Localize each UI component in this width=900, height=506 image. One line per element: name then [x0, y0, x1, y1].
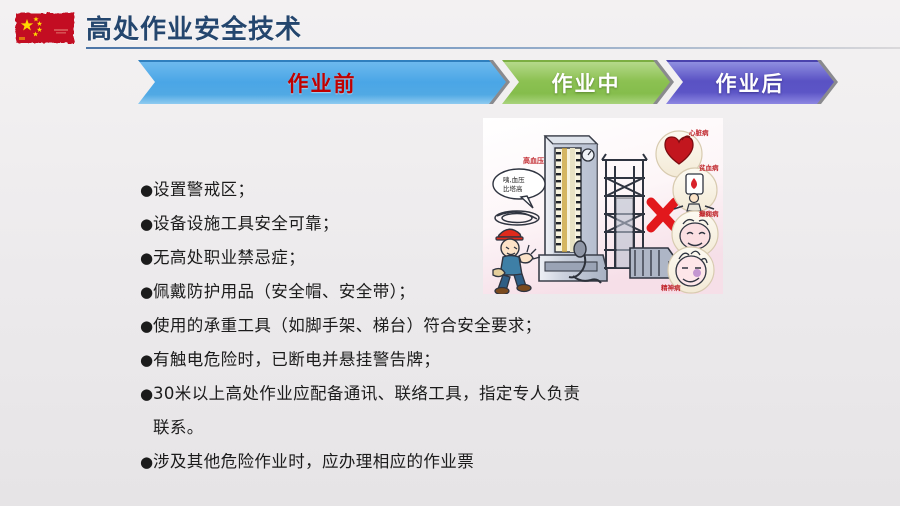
- tab-after-work-label: 作业后: [716, 68, 785, 98]
- label-anemia: 贫血病: [699, 163, 719, 172]
- label-mental-illness: 精神病: [661, 283, 681, 292]
- bullet-dot: ●: [140, 285, 153, 300]
- tab-after-work[interactable]: 作业后: [666, 60, 834, 104]
- list-item-text: 设备设施工具安全可靠；: [153, 210, 339, 234]
- occupational-contraindication-cartoon: 高血压 咦,血压 比塔高: [483, 118, 723, 294]
- tab-during-work[interactable]: 作业中: [502, 60, 670, 104]
- bullet-dot: ●: [140, 353, 153, 368]
- page-title: 高处作业安全技术: [86, 9, 302, 46]
- tab-before-work-label: 作业前: [288, 68, 357, 98]
- bullet-dot: ●: [140, 319, 153, 334]
- speech-line-1: 咦,血压: [503, 175, 525, 184]
- tab-before-work[interactable]: 作业前: [138, 60, 506, 104]
- tab-during-work-label: 作业中: [552, 68, 621, 98]
- list-item-continuation: ● 联系。: [140, 414, 700, 448]
- list-item: ● 使用的承重工具（如脚手架、梯台）符合安全要求；: [140, 312, 700, 346]
- label-epilepsy: 癫痫病: [699, 209, 719, 218]
- list-item-text: 使用的承重工具（如脚手架、梯台）符合安全要求；: [153, 312, 542, 336]
- bullet-dot: ●: [140, 387, 153, 402]
- list-item-text: 30米以上高处作业应配备通讯、联络工具，指定专人负责: [153, 380, 580, 404]
- list-item-text: 有触电危险时，已断电并悬挂警告牌；: [153, 346, 440, 370]
- list-item-text: 联系。: [153, 414, 204, 438]
- list-item: ● 有触电危险时，已断电并悬挂警告牌；: [140, 346, 700, 380]
- china-flag-icon: [14, 11, 76, 45]
- bullet-dot: ●: [140, 183, 153, 198]
- bullet-dot: ●: [140, 217, 153, 232]
- header-divider: [86, 47, 900, 49]
- label-heart-disease: 心脏病: [689, 128, 709, 137]
- label-hypertension: 高血压: [523, 156, 544, 165]
- list-item-text: 佩戴防护用品（安全帽、安全带）；: [153, 278, 415, 302]
- slide-canvas: 高处作业安全技术 作业前 作业中 作业后 ● 设置警戒区； ● 设备设施工具安全…: [0, 0, 900, 506]
- list-item-text: 无高处职业禁忌症；: [153, 244, 305, 268]
- bullet-dot: ●: [140, 455, 153, 470]
- list-item-text: 涉及其他危险作业时，应办理相应的作业票: [153, 448, 474, 472]
- bullet-dot: ●: [140, 251, 153, 266]
- list-item: ● 涉及其他危险作业时，应办理相应的作业票: [140, 448, 700, 482]
- speech-line-2: 比塔高: [503, 184, 523, 193]
- list-item-text: 设置警戒区；: [153, 176, 254, 200]
- slide-header: 高处作业安全技术: [0, 0, 900, 52]
- process-stage-tabbar: 作业前 作业中 作业后: [132, 57, 782, 107]
- list-item: ● 30米以上高处作业应配备通讯、联络工具，指定专人负责: [140, 380, 700, 414]
